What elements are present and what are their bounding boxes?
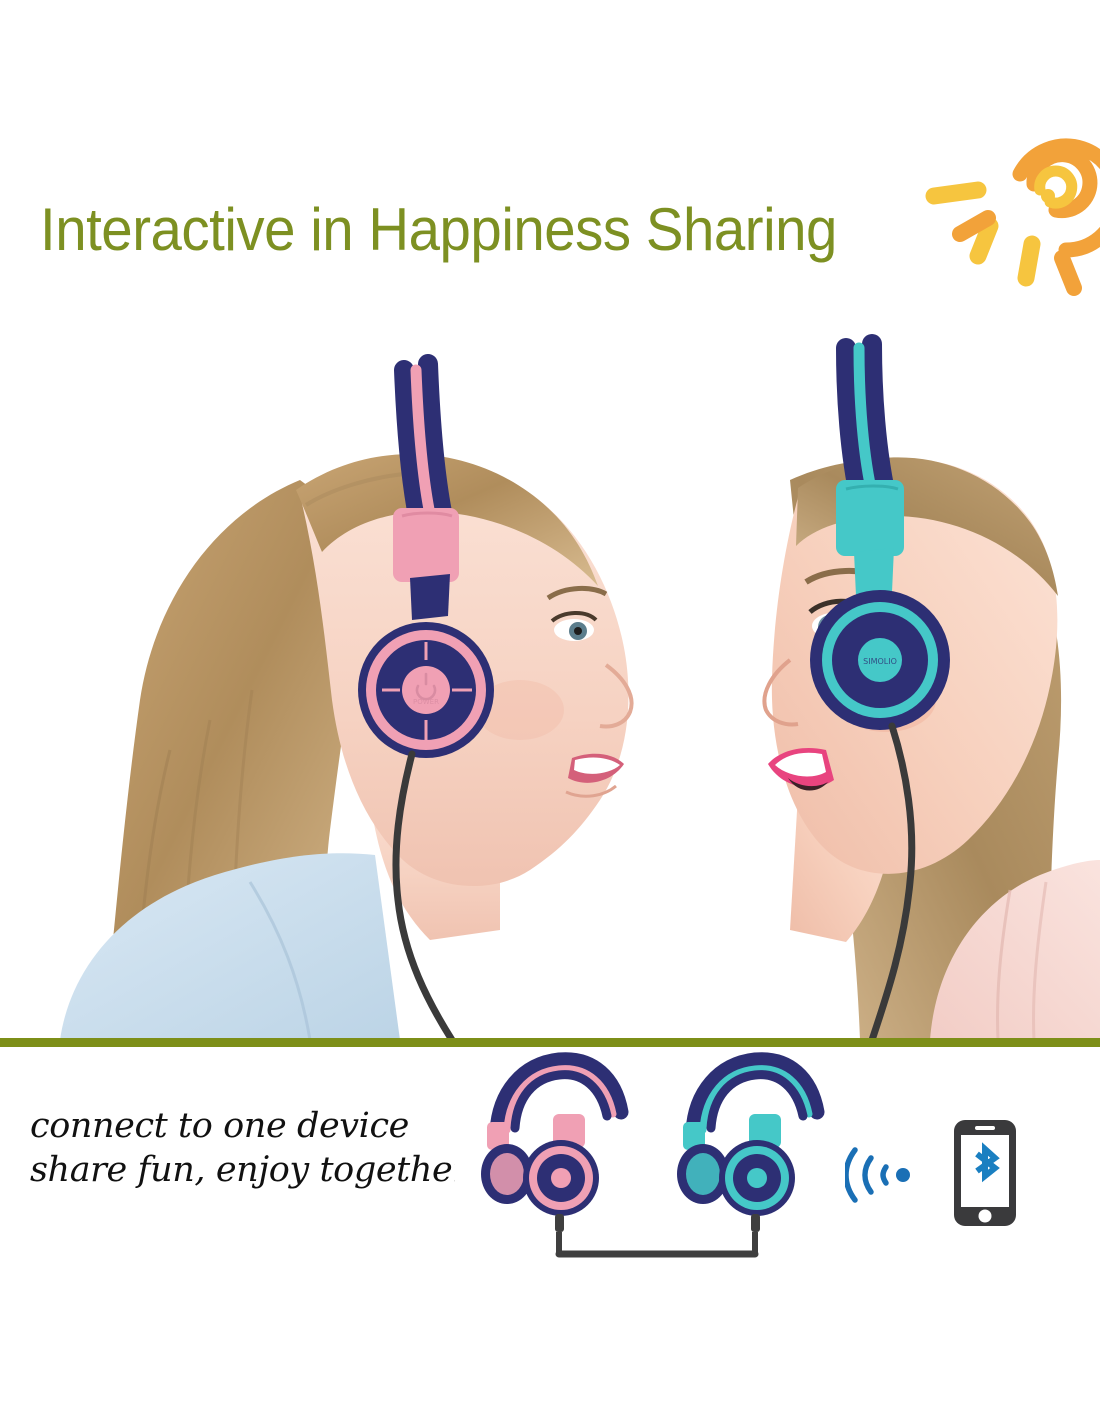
page-title: Interactive in Happiness Sharing — [40, 196, 837, 264]
product-marketing-image: Interactive in Happiness Sharing — [0, 0, 1100, 1422]
svg-text:SIMOLIO: SIMOLIO — [863, 657, 897, 666]
caption-line-2: share fun, enjoy together — [30, 1148, 500, 1192]
shared-headphones-pair — [455, 1048, 855, 1263]
svg-text:POWER: POWER — [413, 698, 439, 706]
footer-caption: connect to one device share fun, enjoy t… — [30, 1104, 500, 1192]
smartphone-bluetooth-icon — [952, 1118, 1018, 1228]
wireless-signal-icon — [845, 1140, 920, 1210]
hero-photo: POWER SIMOLIO — [0, 330, 1100, 1040]
sun-spiral-icon — [916, 138, 1100, 328]
section-divider — [0, 1038, 1100, 1047]
caption-line-1: connect to one device — [30, 1104, 500, 1148]
